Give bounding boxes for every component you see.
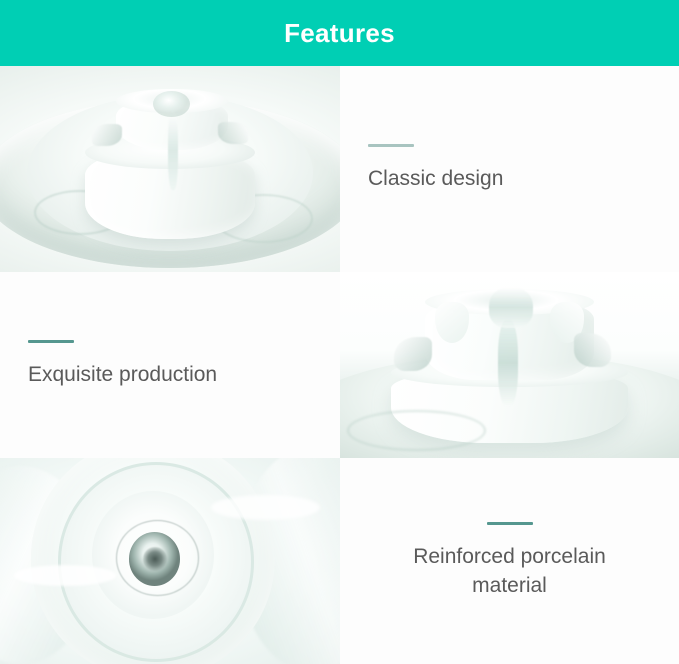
- feature-text-reinforced-porcelain: Reinforced porcelain material: [340, 458, 679, 664]
- photo2-ripple: [347, 410, 487, 451]
- feature-image-classic-design: [0, 66, 340, 272]
- feature-label-classic-design: Classic design: [368, 165, 503, 193]
- ceramic-pet-fountain-three-quarter-view-image: [0, 66, 340, 272]
- photo2-left-spout: [394, 337, 431, 370]
- feature-label-exquisite-production: Exquisite production: [28, 361, 217, 389]
- photo1-right-spout: [218, 122, 249, 145]
- features-grid: Classic design Exquisite production: [0, 66, 679, 664]
- features-header-bar: Features: [0, 0, 679, 66]
- photo2-water-fall: [498, 320, 518, 406]
- feature-text-exquisite-production: Exquisite production: [0, 272, 340, 458]
- fountain-tower-closeup-image: [340, 272, 679, 458]
- accent-rule-icon: [28, 340, 74, 343]
- photo3-highlight-left: [14, 565, 116, 586]
- feature-label-reinforced-porcelain-line2: material: [472, 572, 547, 600]
- features-page: Features Classic de: [0, 0, 679, 664]
- feature-image-exquisite-production: [340, 272, 679, 458]
- accent-rule-icon: [487, 522, 533, 525]
- accent-rule-icon: [368, 144, 414, 147]
- photo2-water-crest: [489, 287, 533, 328]
- page-title: Features: [284, 20, 395, 46]
- photo1-water-stream: [168, 111, 178, 189]
- fountain-basin-top-down-image: [0, 458, 340, 664]
- photo3-center-aperture: [143, 547, 167, 572]
- photo3-highlight-right: [211, 495, 320, 520]
- feature-image-reinforced-porcelain: [0, 458, 340, 664]
- feature-label-reinforced-porcelain-line1: Reinforced porcelain: [413, 543, 606, 571]
- feature-text-classic-design: Classic design: [340, 66, 679, 272]
